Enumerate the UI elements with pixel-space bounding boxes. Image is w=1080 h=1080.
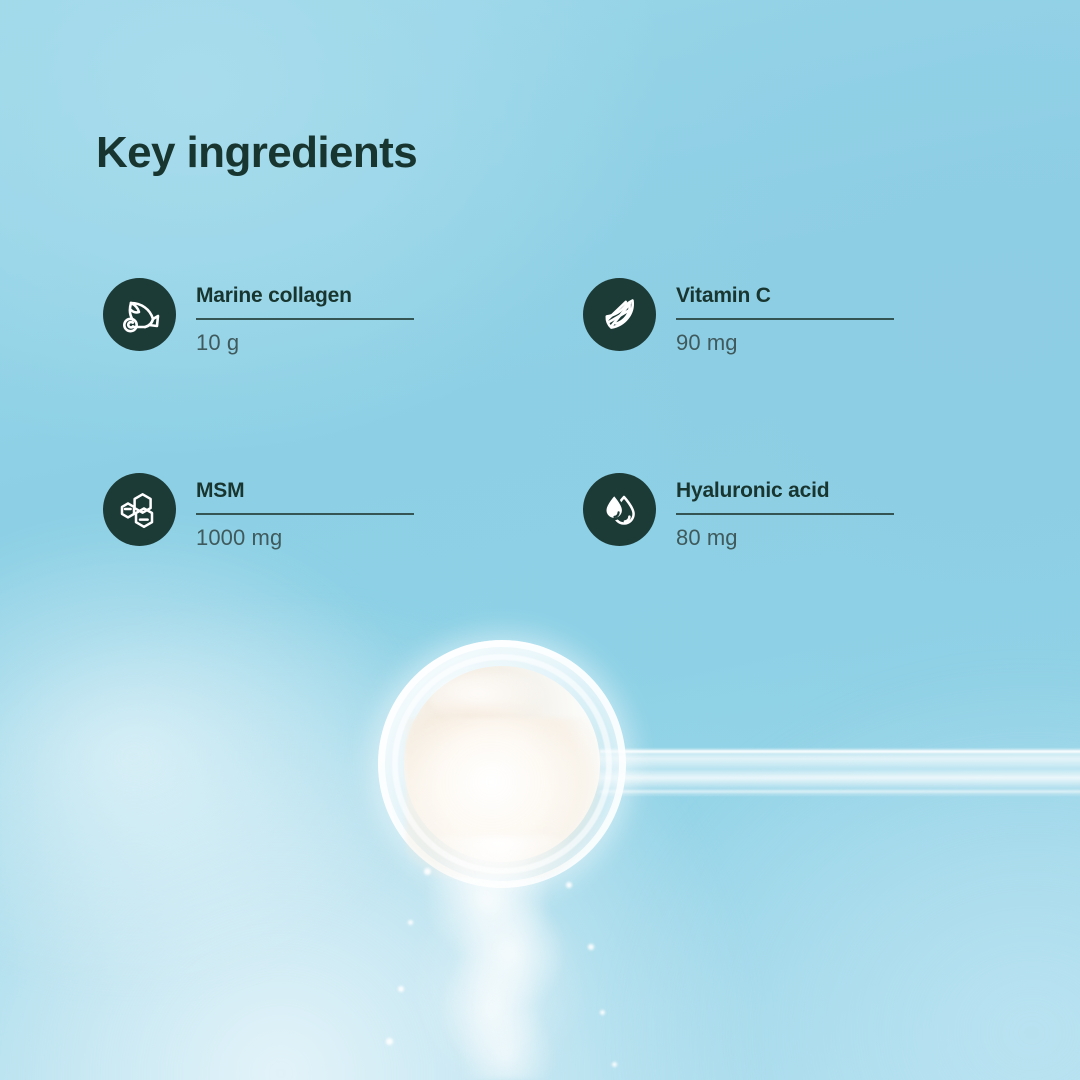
ingredient-divider <box>196 318 414 320</box>
ingredient-item-vitamin-c: Vitamin C 90 mg <box>583 278 894 355</box>
ingredient-info: Marine collagen 10 g <box>196 278 414 355</box>
ingredient-amount: 1000 mg <box>196 526 414 550</box>
ingredient-divider <box>196 513 414 515</box>
ingredient-info: MSM 1000 mg <box>196 473 414 550</box>
scoop-handle-highlight-bottom <box>600 790 1080 793</box>
scoop-handle-highlight-top <box>600 750 1080 753</box>
page-title: Key ingredients <box>96 128 417 178</box>
ingredient-divider <box>676 318 894 320</box>
ingredient-amount: 90 mg <box>676 331 894 355</box>
infographic-canvas: Key ingredients <box>0 0 1080 1080</box>
ingredient-name: Marine collagen <box>196 284 414 307</box>
powder-particle <box>424 868 431 875</box>
powder-particle <box>398 986 404 992</box>
ingredient-item-marine-collagen: Marine collagen 10 g <box>103 278 414 355</box>
ingredient-divider <box>676 513 894 515</box>
ingredient-item-msm: MSM 1000 mg <box>103 473 414 550</box>
ingredient-name: Vitamin C <box>676 284 894 307</box>
ingredient-name: Hyaluronic acid <box>676 479 894 502</box>
citrus-slice-icon <box>599 294 641 336</box>
molecule-hexagons-icon <box>119 489 161 531</box>
ingredient-item-hyaluronic-acid: Hyaluronic acid 80 mg <box>583 473 894 550</box>
ingredient-amount: 80 mg <box>676 526 894 550</box>
fish-icon <box>119 294 161 336</box>
ingredient-amount: 10 g <box>196 331 414 355</box>
powder-particle <box>386 1038 393 1045</box>
ingredient-badge <box>583 278 656 351</box>
powder-particle <box>408 920 413 925</box>
ingredient-badge <box>583 473 656 546</box>
ingredient-info: Vitamin C 90 mg <box>676 278 894 355</box>
ingredient-info: Hyaluronic acid 80 mg <box>676 473 894 550</box>
ingredient-badge <box>103 473 176 546</box>
powder-particle <box>588 944 594 950</box>
scoop-handle <box>596 748 1080 796</box>
powder-particle <box>600 1010 605 1015</box>
water-droplets-icon <box>599 489 641 531</box>
powder-particle <box>612 1062 617 1067</box>
ingredient-badge <box>103 278 176 351</box>
scoop-glass-highlight <box>430 672 550 726</box>
ingredient-name: MSM <box>196 479 414 502</box>
product-photo <box>0 600 1080 1080</box>
powder-particle <box>566 882 572 888</box>
powder-stream <box>404 836 594 1080</box>
